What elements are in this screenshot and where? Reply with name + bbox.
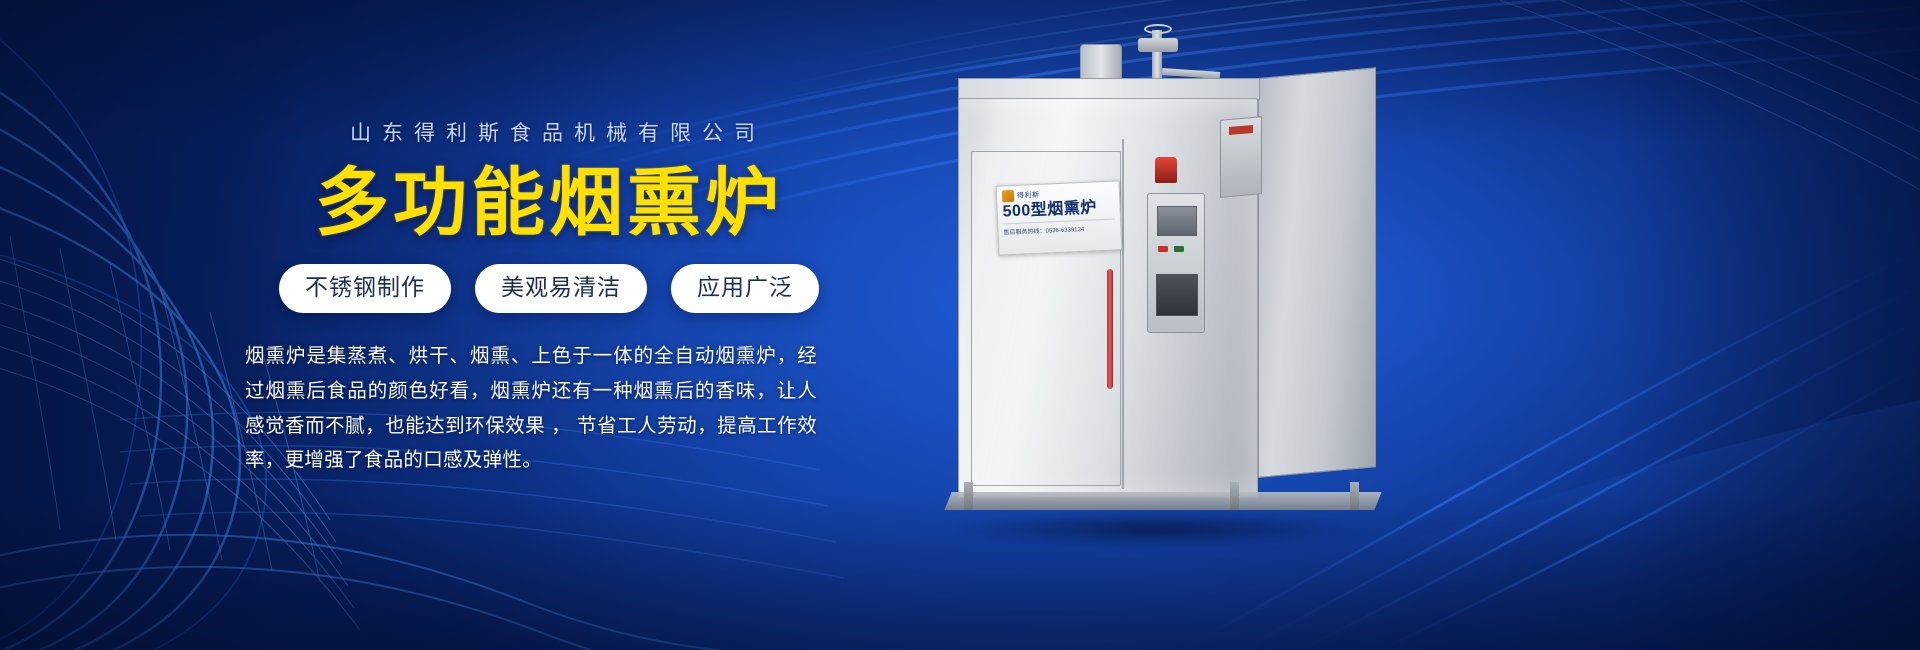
side-box-indicator-icon (1229, 125, 1253, 135)
door-seam (1122, 139, 1124, 489)
status-led-green-icon (1174, 246, 1184, 252)
feature-pill[interactable]: 不锈钢制作 (279, 264, 451, 313)
product-shadow (940, 510, 1370, 548)
machine-leg (1230, 482, 1239, 510)
cabinet-side-panel (1258, 67, 1376, 478)
status-led-red-icon (1158, 246, 1168, 252)
steam-valve-head (1138, 38, 1178, 52)
brand-logo-icon (1002, 190, 1015, 203)
banner-content: 山东得利斯食品机械有限公司 多功能烟熏炉 不锈钢制作 美观易清洁 应用广泛 烟熏… (245, 118, 845, 478)
promo-banner: 山东得利斯食品机械有限公司 多功能烟熏炉 不锈钢制作 美观易清洁 应用广泛 烟熏… (0, 0, 1920, 650)
machine-leg (964, 482, 973, 510)
machine-label-plate: 得利斯 500型烟熏炉 售后服务热线：0536-6339124 (996, 180, 1123, 255)
machine-base (944, 492, 1381, 510)
feature-pill-list: 不锈钢制作 美观易清洁 应用广泛 (245, 264, 845, 313)
electrical-side-box (1220, 116, 1262, 198)
alarm-beacon-icon (1155, 157, 1177, 183)
label-brand-text: 得利斯 (1017, 190, 1040, 201)
company-name: 山东得利斯食品机械有限公司 (245, 118, 845, 150)
cabinet-top-panel (958, 78, 1260, 100)
stainless-steel-cabinet: 得利斯 500型烟熏炉 售后服务热线：0536-6339124 (958, 98, 1258, 498)
steam-valve-wheel-icon (1144, 24, 1172, 34)
label-model-text: 500型烟熏炉 (1002, 199, 1115, 222)
feature-pill[interactable]: 应用广泛 (671, 264, 819, 313)
door-handle (1107, 269, 1113, 389)
page-title: 多功能烟熏炉 (245, 162, 845, 245)
control-screen (1157, 206, 1197, 236)
product-description: 烟熏炉是集蒸煮、烘干、烟熏、上色于一体的全自动烟熏炉，经过烟熏后食品的颜色好看，… (245, 339, 817, 478)
feature-pill[interactable]: 美观易清洁 (475, 264, 647, 313)
control-panel (1147, 193, 1205, 333)
label-hotline-text: 售后服务热线：0536-6339124 (1003, 223, 1115, 237)
product-image: 得利斯 500型烟熏炉 售后服务热线：0536-6339124 (930, 30, 1490, 540)
control-keypad (1156, 274, 1198, 316)
machine-leg (1350, 482, 1359, 510)
